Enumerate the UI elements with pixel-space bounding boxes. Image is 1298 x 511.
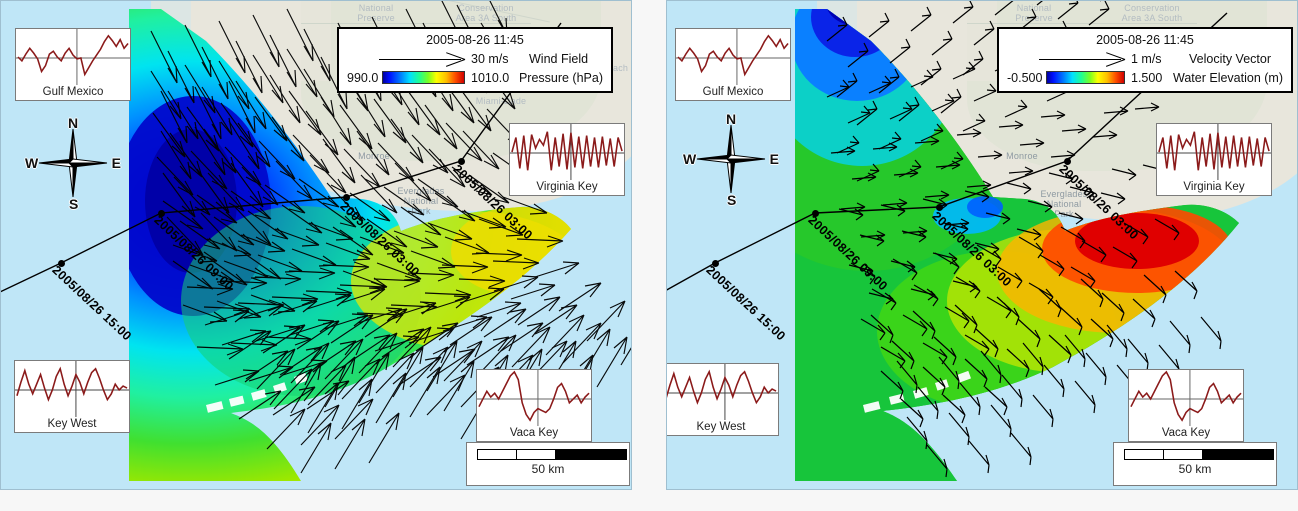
timeseries-plot bbox=[510, 124, 624, 180]
colorbar bbox=[382, 71, 465, 84]
compass-rose: N E S W bbox=[27, 117, 119, 209]
station-inset-vaca-key[interactable]: Vaca Key bbox=[1128, 369, 1244, 442]
compass-north-label: N bbox=[68, 115, 78, 131]
station-inset-key-west[interactable]: Key West bbox=[666, 363, 779, 436]
compass-east-label: E bbox=[112, 155, 121, 171]
legend-scalar-label: Water Elevation (m) bbox=[1173, 71, 1283, 85]
timeseries-plot bbox=[15, 361, 129, 417]
compass-west-label: W bbox=[683, 151, 696, 167]
station-label: Key West bbox=[15, 418, 129, 431]
scale-bar-label: 50 km bbox=[477, 462, 619, 476]
station-label: Gulf Mexico bbox=[676, 86, 790, 99]
compass-west-label: W bbox=[25, 155, 38, 171]
station-label: Virginia Key bbox=[510, 181, 624, 194]
figure-root: Conservation Area 3A South National Pres… bbox=[0, 0, 1298, 511]
station-inset-key-west[interactable]: Key West bbox=[14, 360, 130, 433]
station-inset-gulf-mexico[interactable]: Gulf Mexico bbox=[675, 28, 791, 101]
station-label: Key West bbox=[666, 421, 778, 434]
station-inset-virginia-key[interactable]: Virginia Key bbox=[1156, 123, 1272, 196]
panel-elevation-velocity[interactable]: Conservation Area 3A South National Pres… bbox=[666, 0, 1298, 490]
compass-rose: N E S W bbox=[685, 113, 777, 205]
station-label: Vaca Key bbox=[477, 427, 591, 440]
legend-box[interactable]: 2005-08-26 11:45 30 m/s Wind Field 990.0… bbox=[337, 27, 613, 93]
scale-bar-label: 50 km bbox=[1124, 462, 1266, 476]
station-inset-gulf-mexico[interactable]: Gulf Mexico bbox=[15, 28, 131, 101]
timeseries-plot bbox=[16, 29, 130, 85]
station-inset-virginia-key[interactable]: Virginia Key bbox=[509, 123, 625, 196]
compass-south-label: S bbox=[69, 196, 78, 212]
panel-wind-pressure[interactable]: Conservation Area 3A South National Pres… bbox=[0, 0, 632, 490]
timeseries-plot bbox=[1157, 124, 1271, 180]
legend-vector-label: Velocity Vector bbox=[1189, 52, 1271, 66]
station-label: Vaca Key bbox=[1129, 427, 1243, 440]
legend-timestamp: 2005-08-26 11:45 bbox=[1007, 33, 1283, 47]
legend-vector-row: 1 m/s Velocity Vector bbox=[1007, 49, 1283, 68]
vector-arrow-icon bbox=[1039, 53, 1125, 65]
legend-scalar-max: 1010.0 bbox=[471, 71, 513, 85]
compass-south-label: S bbox=[727, 192, 736, 208]
colorbar bbox=[1046, 71, 1125, 84]
timeseries-plot bbox=[676, 29, 790, 85]
legend-vector-row: 30 m/s Wind Field bbox=[347, 49, 603, 68]
scale-bar-box: 50 km bbox=[1113, 442, 1277, 486]
legend-box[interactable]: 2005-08-26 11:45 1 m/s Velocity Vector -… bbox=[997, 27, 1293, 93]
legend-timestamp: 2005-08-26 11:45 bbox=[347, 33, 603, 47]
scale-bar-graphic bbox=[477, 449, 627, 460]
timeseries-plot bbox=[1129, 370, 1243, 426]
compass-north-label: N bbox=[726, 111, 736, 127]
legend-scalar-row: -0.500 1.500 Water Elevation (m) bbox=[1007, 68, 1283, 87]
station-inset-vaca-key[interactable]: Vaca Key bbox=[476, 369, 592, 442]
timeseries-plot bbox=[666, 364, 778, 420]
station-label: Gulf Mexico bbox=[16, 86, 130, 99]
legend-scalar-min: -0.500 bbox=[1007, 71, 1042, 85]
compass-east-label: E bbox=[770, 151, 779, 167]
legend-scalar-max: 1.500 bbox=[1131, 71, 1167, 85]
legend-scalar-label: Pressure (hPa) bbox=[519, 71, 603, 85]
scale-bar-graphic bbox=[1124, 449, 1274, 460]
scale-bar-box: 50 km bbox=[466, 442, 630, 486]
legend-vector-value: 30 m/s bbox=[471, 52, 523, 66]
legend-scalar-min: 990.0 bbox=[347, 71, 378, 85]
legend-vector-label: Wind Field bbox=[529, 52, 588, 66]
timeseries-plot bbox=[477, 370, 591, 426]
station-label: Virginia Key bbox=[1157, 181, 1271, 194]
legend-scalar-row: 990.0 1010.0 Pressure (hPa) bbox=[347, 68, 603, 87]
legend-vector-value: 1 m/s bbox=[1131, 52, 1183, 66]
vector-arrow-icon bbox=[379, 53, 465, 65]
